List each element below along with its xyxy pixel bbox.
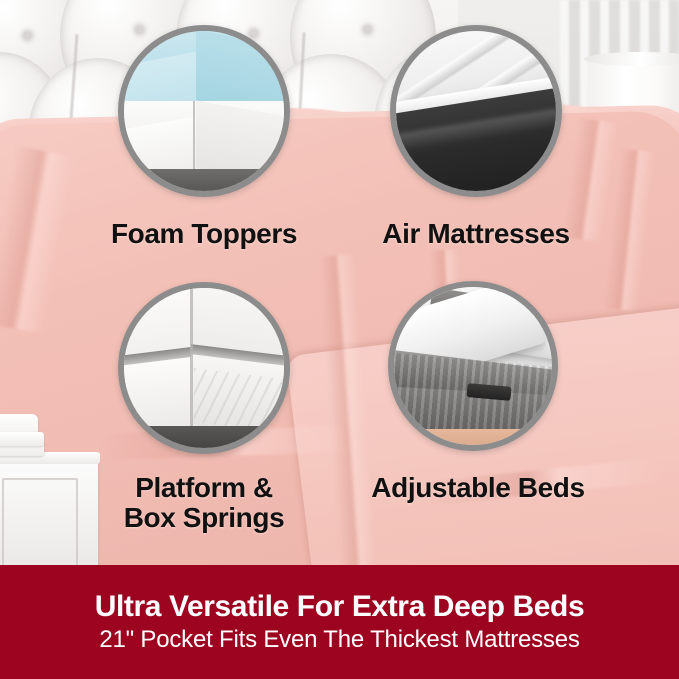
product-infographic: Foam Toppers Air Mattresses Platform & B… <box>0 0 679 679</box>
feature-label-platform-box-springs: Platform & Box Springs <box>68 473 340 533</box>
bottom-banner: Ultra Versatile For Extra Deep Beds 21" … <box>0 565 679 679</box>
feature-circle-air-mattresses[interactable] <box>390 25 562 197</box>
feature-circle-foam-toppers[interactable] <box>118 25 290 197</box>
nightstand-drawer-panel <box>2 478 78 577</box>
mattress-corner-seam <box>193 101 195 175</box>
banner-headline: Ultra Versatile For Extra Deep Beds <box>95 592 585 622</box>
feature-circle-platform-box-springs[interactable] <box>118 282 290 454</box>
feature-label-adjustable-beds: Adjustable Beds <box>342 473 614 503</box>
feature-label-air-mattresses: Air Mattresses <box>340 219 612 249</box>
banner-subheadline: 21" Pocket Fits Even The Thickest Mattre… <box>99 628 579 652</box>
boxspring-corner-seam <box>190 282 193 432</box>
feature-label-foam-toppers: Foam Toppers <box>68 219 340 249</box>
nightstand-decor-bottom <box>0 432 44 446</box>
feature-circle-adjustable-beds[interactable] <box>388 281 558 451</box>
